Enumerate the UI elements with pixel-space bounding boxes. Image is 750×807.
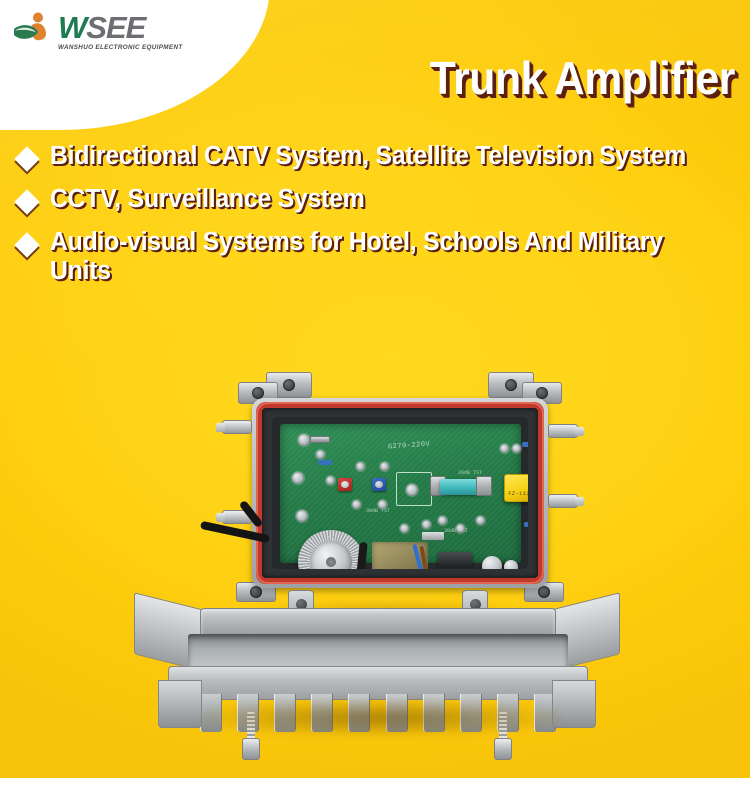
electrolytic-capacitor [482,556,502,569]
solder-pad [298,434,310,446]
screw-nut [242,738,260,760]
logo-word-w: W [58,10,86,45]
solder-pad [500,444,509,453]
yellow-transformer-component: FZ-112 [504,474,528,502]
transformer-core [310,541,352,569]
feature-text: CCTV, Surveillance System [50,185,365,214]
list-item: CCTV, Surveillance System [14,185,736,214]
component-label: FZ-112 [505,490,528,497]
blue-trimmer-potentiometer [372,478,386,491]
red-gasket-seal: G270-220V 30dB TST 20dB TST 30dB TST [256,402,544,584]
diamond-bullet-icon [14,189,39,214]
heat-clamp [476,476,492,496]
feature-text: Bidirectional CATV System, Satellite Tel… [50,142,686,171]
wsee-figure-leaf-mark [12,11,54,51]
smd-component [422,532,444,540]
solder-pad [292,472,304,484]
brand-tagline: WANSHUO ELECTRONIC EQUIPMENT [58,44,183,51]
brand-logo[interactable]: WSEE WANSHUO ELECTRONIC EQUIPMENT [12,11,202,55]
pcb-mark-a: 30dB TST [366,508,390,514]
electrolytic-capacitor [504,560,518,569]
feature-list: Bidirectional CATV System, Satellite Tel… [14,142,736,300]
f-connector-port [548,494,578,508]
red-trimmer-potentiometer [338,478,352,491]
toroidal-transformer [298,530,364,569]
page-title: Trunk Amplifier [51,52,735,104]
footer-white-strip [0,778,750,807]
pcb-silkscreen-text: G270-220V [388,441,431,452]
logo-word-see: SEE [86,10,145,45]
screw-nut [494,738,512,760]
solder-pad [356,462,365,471]
solder-pad [400,524,409,533]
regulator-ic [438,552,472,569]
inductor [310,436,330,443]
solder-pad [476,516,485,525]
solder-pad [352,500,361,509]
solder-pad [380,462,389,471]
f-connector-port [222,420,252,434]
brand-wordmark: WSEE WANSHUO ELECTRONIC EQUIPMENT [58,11,183,51]
list-item: Audio-visual Systems for Hotel, Schools … [14,228,736,286]
base-corner-block [158,680,202,728]
solder-pad [438,516,447,525]
f-connector-port [548,424,578,438]
lid-cavity: G270-220V 30dB TST 20dB TST 30dB TST [272,417,528,569]
solder-pad [406,484,418,496]
resistor [318,460,332,465]
lid-shell: G270-220V 30dB TST 20dB TST 30dB TST [252,398,548,588]
solder-pad [422,520,431,529]
amplifier-lid-assembly: G270-220V 30dB TST 20dB TST 30dB TST [252,398,548,588]
diamond-bullet-icon [14,146,39,171]
diamond-bullet-icon [14,232,39,257]
solder-pad [296,510,308,522]
solder-pad [316,450,325,459]
product-image: G270-220V 30dB TST 20dB TST 30dB TST [0,362,750,778]
resistor [524,522,528,527]
solder-pad [326,476,335,485]
circuit-board: G270-220V 30dB TST 20dB TST 30dB TST [280,424,521,563]
solder-pad [512,444,521,453]
resistor [522,442,528,447]
product-banner: WSEE WANSHUO ELECTRONIC EQUIPMENT Trunk … [0,0,750,807]
list-item: Bidirectional CATV System, Satellite Tel… [14,142,736,171]
solder-pad [378,500,387,509]
solder-pad [456,524,465,533]
ground-shadow [200,700,560,736]
feature-text: Audio-visual Systems for Hotel, Schools … [50,228,715,286]
